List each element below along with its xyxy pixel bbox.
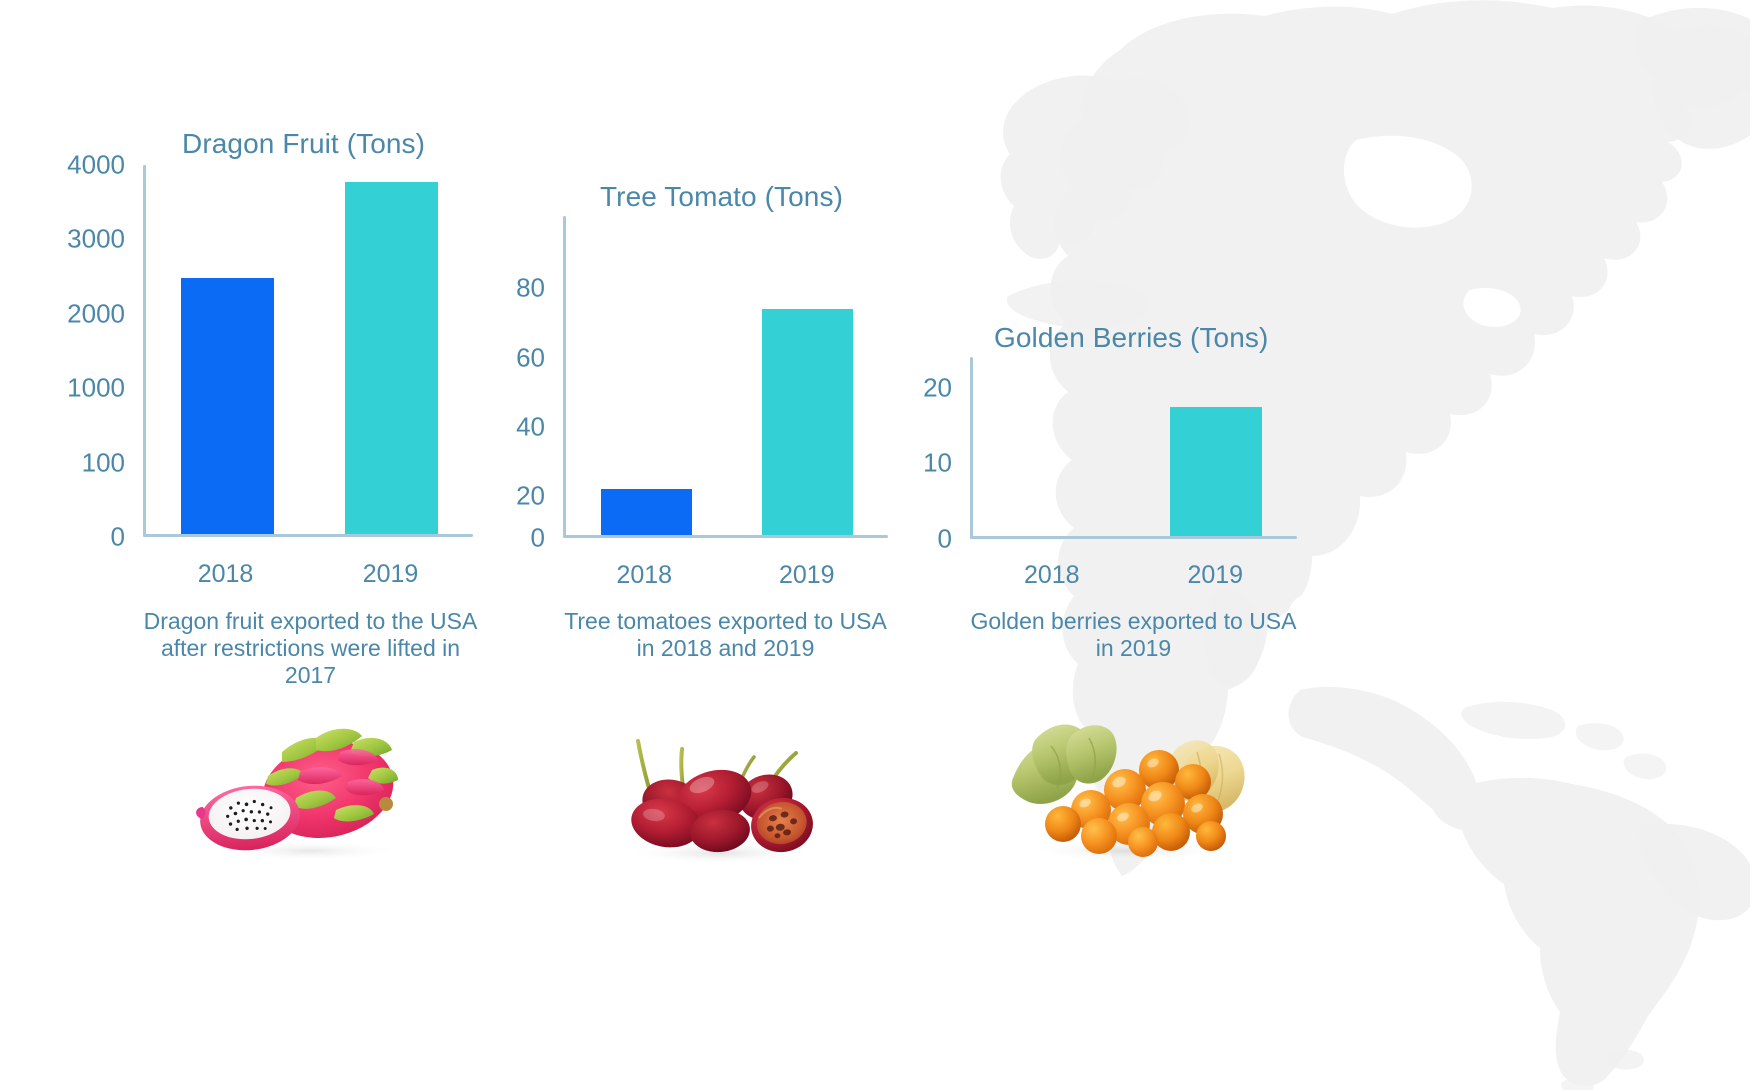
dragon-fruit-photo <box>190 718 420 863</box>
tree-tomato-photo <box>610 715 835 865</box>
bar-group-golden-berries <box>973 357 1297 536</box>
x-label-2018: 2018 <box>143 560 308 589</box>
y-tick-label: 3000 <box>67 224 143 255</box>
bar-slot-2018 <box>566 216 727 535</box>
x-label-2018: 2018 <box>970 561 1134 590</box>
y-tick-label: 20 <box>923 372 970 403</box>
caption-golden-berries: Golden berries exported to USA in 2019 <box>970 608 1297 662</box>
x-label-2019: 2019 <box>1134 561 1298 590</box>
y-tick-label: 2000 <box>67 298 143 329</box>
y-tick-label: 60 <box>516 342 563 373</box>
plot-area-golden-berries: 20 10 0 <box>970 357 1297 539</box>
y-tick-label: 4000 <box>67 150 143 181</box>
chart-title-golden-berries: Golden Berries (Tons) <box>994 322 1268 354</box>
y-tick-label: 0 <box>531 523 563 554</box>
x-label-2018: 2018 <box>563 561 726 590</box>
bar-golden-berries-2019[interactable] <box>1170 407 1262 536</box>
chart-title-dragon-fruit: Dragon Fruit (Tons) <box>182 128 425 160</box>
y-tick-label: 0 <box>938 524 970 555</box>
bar-slot-2018 <box>146 165 310 534</box>
infographic-canvas: Dragon Fruit (Tons) 4000 3000 2000 1000 … <box>0 0 1750 1079</box>
bar-dragon-fruit-2018[interactable] <box>181 278 274 534</box>
y-tick-label: 80 <box>516 273 563 304</box>
bar-slot-2019 <box>1135 357 1297 536</box>
bar-tree-tomato-2018[interactable] <box>601 489 693 535</box>
y-tick-label: 1000 <box>67 373 143 404</box>
y-tick-label: 100 <box>82 447 143 478</box>
x-axis-labels-golden-berries: 2018 2019 <box>970 561 1297 590</box>
chart-title-tree-tomato: Tree Tomato (Tons) <box>600 181 843 213</box>
y-tick-label: 20 <box>516 481 563 512</box>
golden-berries-photo <box>1005 718 1250 863</box>
x-axis-line <box>970 536 1297 539</box>
chart-golden-berries: Golden Berries (Tons) 20 10 0 2018 2019 … <box>830 0 1350 720</box>
y-tick-label: 0 <box>111 522 143 553</box>
y-tick-label: 40 <box>516 411 563 442</box>
bar-slot-2018 <box>973 357 1135 536</box>
y-tick-label: 10 <box>923 447 970 478</box>
